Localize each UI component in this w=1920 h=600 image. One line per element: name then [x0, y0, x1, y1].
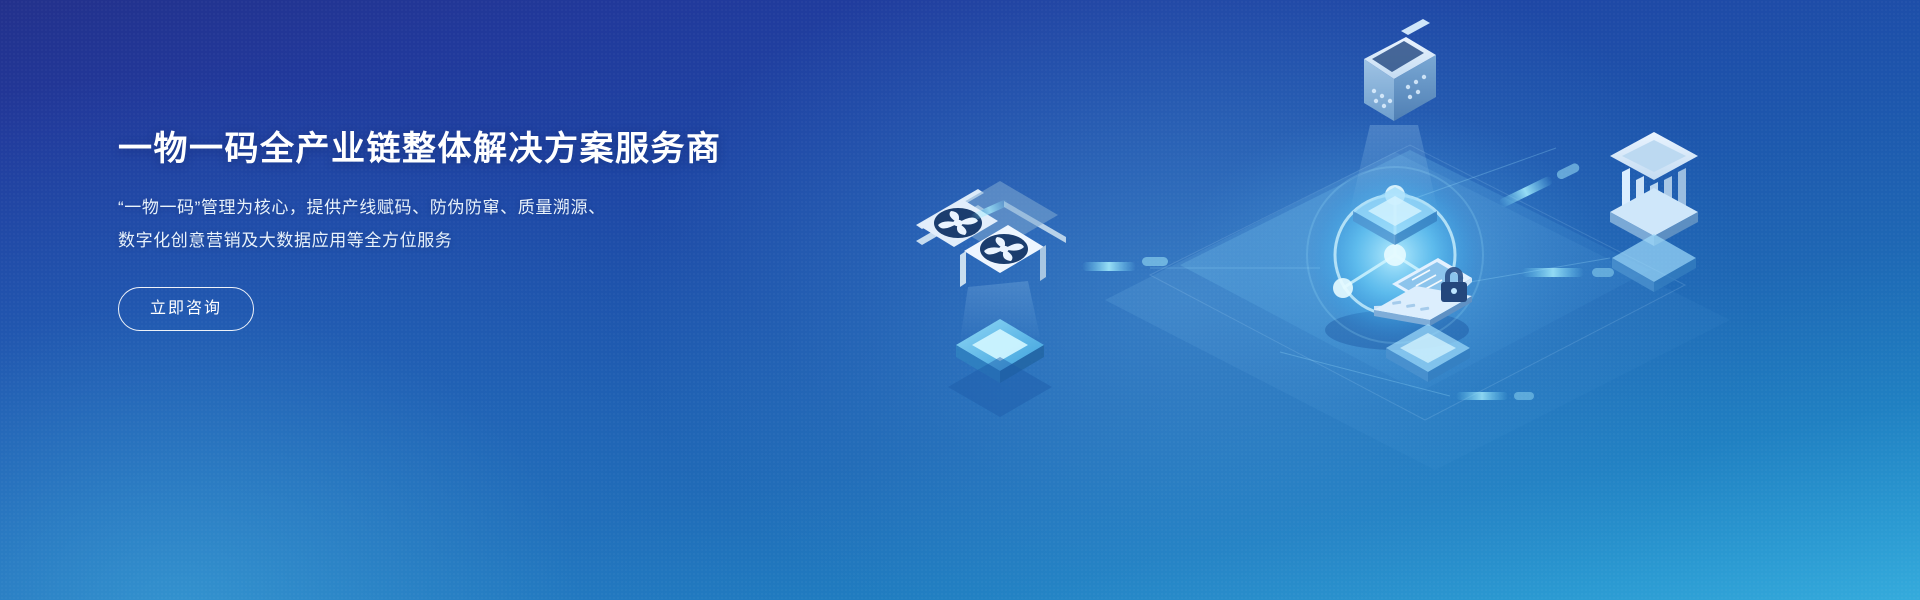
server-rack-icon: [916, 181, 1066, 417]
hero-banner: 一物一码全产业链整体解决方案服务商 “一物一码”管理为核心，提供产线赋码、防伪防…: [0, 0, 1920, 600]
consult-now-button[interactable]: 立即咨询: [118, 287, 254, 331]
hero-copy-block: 一物一码全产业链整体解决方案服务商 “一物一码”管理为核心，提供产线赋码、防伪防…: [118, 128, 758, 331]
hero-subtitle: “一物一码”管理为核心，提供产线赋码、防伪防窜、质量溯源、 数字化创意营销及大数…: [118, 191, 758, 257]
hero-subtitle-line-1: “一物一码”管理为核心，提供产线赋码、防伪防窜、质量溯源、: [118, 191, 758, 224]
bank-building-icon: [1610, 132, 1698, 292]
hero-illustration: [850, 0, 1920, 600]
hero-subtitle-line-2: 数字化创意营销及大数据应用等全方位服务: [118, 224, 758, 257]
page-title: 一物一码全产业链整体解决方案服务商: [118, 128, 758, 171]
